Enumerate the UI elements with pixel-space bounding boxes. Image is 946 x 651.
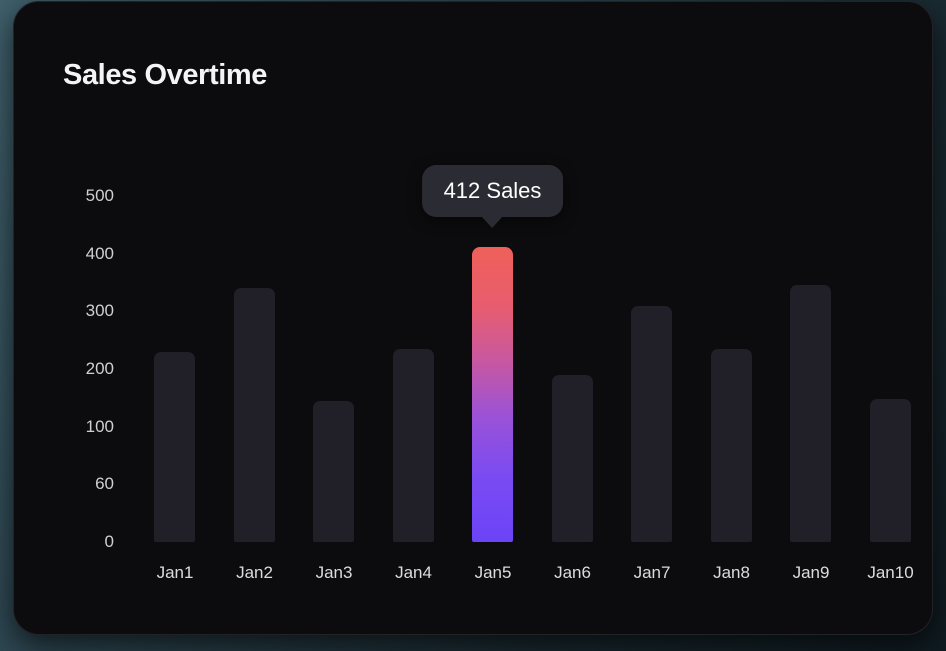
bar[interactable]	[393, 349, 434, 542]
x-axis-tick-jan8: Jan8	[691, 563, 773, 583]
page-background: Sales Overtime 500400300200100600 Jan1Ja…	[0, 0, 946, 651]
bar-column-jan1[interactable]: Jan1	[134, 2, 216, 634]
x-axis-tick-jan10: Jan10	[850, 563, 932, 583]
bar[interactable]	[313, 401, 354, 542]
bar[interactable]	[711, 349, 752, 542]
y-axis: 500400300200100600	[52, 2, 114, 634]
y-axis-tick-400: 400	[52, 244, 114, 264]
y-axis-tick-60: 60	[52, 474, 114, 494]
x-axis-tick-jan2: Jan2	[214, 563, 296, 583]
tooltip-arrow-icon	[481, 216, 503, 228]
bar[interactable]	[552, 375, 593, 542]
bar[interactable]	[234, 288, 275, 542]
x-axis-tick-jan5: Jan5	[452, 563, 534, 583]
x-axis-tick-jan7: Jan7	[611, 563, 693, 583]
y-axis-tick-100: 100	[52, 417, 114, 437]
x-axis-tick-jan9: Jan9	[770, 563, 852, 583]
bar-tooltip: 412 Sales	[422, 165, 564, 217]
y-axis-tick-0: 0	[52, 532, 114, 552]
bar[interactable]	[870, 399, 911, 542]
y-axis-tick-500: 500	[52, 186, 114, 206]
bar-column-jan7[interactable]: Jan7	[611, 2, 693, 634]
sales-chart-card: Sales Overtime 500400300200100600 Jan1Ja…	[13, 1, 933, 635]
x-axis-tick-jan6: Jan6	[532, 563, 614, 583]
chart-plot-area: 500400300200100600 Jan1Jan2Jan3Jan4Jan5J…	[14, 2, 932, 634]
y-axis-tick-300: 300	[52, 301, 114, 321]
x-axis-tick-jan3: Jan3	[293, 563, 375, 583]
bar-column-jan8[interactable]: Jan8	[691, 2, 773, 634]
x-axis-tick-jan4: Jan4	[373, 563, 455, 583]
bar-column-jan6[interactable]: Jan6	[532, 2, 614, 634]
x-axis-tick-jan1: Jan1	[134, 563, 216, 583]
bar[interactable]	[790, 285, 831, 542]
bar-column-jan5[interactable]: Jan5	[452, 2, 534, 634]
bar-column-jan3[interactable]: Jan3	[293, 2, 375, 634]
tooltip-label: 412 Sales	[444, 178, 542, 203]
bar-series: Jan1Jan2Jan3Jan4Jan5Jan6Jan7Jan8Jan9Jan1…	[134, 2, 924, 634]
y-axis-tick-200: 200	[52, 359, 114, 379]
bar-column-jan9[interactable]: Jan9	[770, 2, 852, 634]
bar-highlighted[interactable]	[472, 247, 513, 542]
bar[interactable]	[154, 352, 195, 542]
bar[interactable]	[631, 306, 672, 542]
bar-column-jan10[interactable]: Jan10	[850, 2, 932, 634]
bar-column-jan2[interactable]: Jan2	[214, 2, 296, 634]
bar-column-jan4[interactable]: Jan4	[373, 2, 455, 634]
